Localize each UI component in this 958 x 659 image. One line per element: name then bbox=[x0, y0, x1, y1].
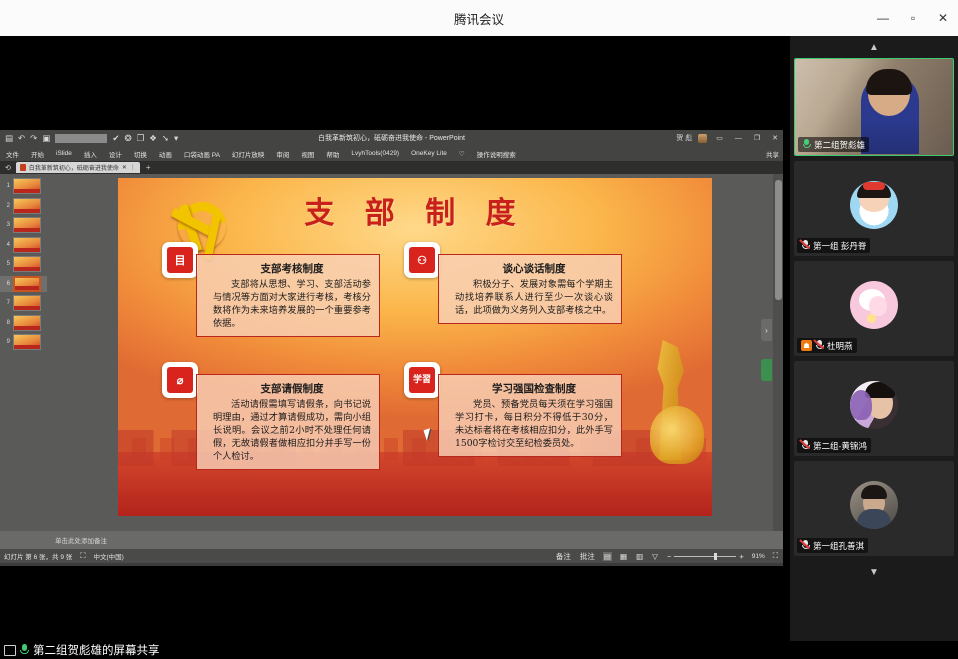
thumbnail-image bbox=[13, 315, 41, 331]
mic-muted-icon bbox=[801, 540, 810, 551]
ribbon-tab-insert[interactable]: 插入 bbox=[78, 149, 103, 159]
file-tab-current[interactable]: 白我革新筑初心，砥砺奋进我使命 ✕ ⋮ bbox=[16, 162, 140, 173]
maximize-button[interactable]: ▫ bbox=[898, 0, 928, 36]
share-mic-icon bbox=[20, 644, 29, 656]
screen-share-bar: 第二组贺彪雄的屏幕共享 bbox=[0, 641, 958, 659]
powerpoint-title-right: 贺 彪 ▭ — ❐ ✕ bbox=[676, 133, 781, 143]
ribbon-tab-slideshow[interactable]: 幻灯片放映 bbox=[226, 149, 271, 159]
slide-canvas-area[interactable]: 支 部 制 度 目 ⚇ ⌀ 学習 支部考核制度 支部将从思想、学习、支部活动参与… bbox=[47, 174, 783, 531]
participant-nametag: 第一组 彭丹脊 bbox=[797, 238, 870, 253]
leave-form-glyph: ⌀ bbox=[167, 367, 193, 393]
mic-muted-icon bbox=[815, 340, 824, 351]
file-tab-menu-icon[interactable]: ⋮ bbox=[130, 164, 136, 171]
ribbon-tab-file[interactable]: 文件 bbox=[0, 149, 25, 159]
quick-access-toolbar: ▤ ↶ ↷ ▣ ✔ ❂ ❐ ❖ ➘ ▾ bbox=[0, 134, 178, 143]
slide-thumbnail-4[interactable]: 4 bbox=[0, 237, 47, 253]
thumbnail-image bbox=[13, 295, 41, 311]
mic-muted-icon bbox=[801, 240, 810, 251]
zoom-knob[interactable] bbox=[714, 553, 717, 560]
accessibility-icon[interactable]: ⛶ bbox=[79, 551, 86, 561]
pointer-icon[interactable]: ➘ bbox=[162, 134, 169, 143]
thumbnail-image bbox=[13, 334, 41, 350]
view-normal-icon[interactable]: ▤ bbox=[603, 552, 612, 561]
powerpoint-file-tabstrip: ⟲ 白我革新筑初心，砥砺奋进我使命 ✕ ⋮ + bbox=[0, 161, 783, 174]
account-name: 贺 彪 bbox=[676, 133, 692, 143]
ribbon-share-area: 共享 bbox=[766, 149, 779, 159]
ribbon-tab-pocket-animation[interactable]: 口袋动画 PA bbox=[178, 149, 226, 159]
zoom-level[interactable]: 91% bbox=[752, 553, 765, 560]
participant-name: 第一组 彭丹脊 bbox=[813, 240, 866, 252]
card-heading: 支部考核制度 bbox=[213, 261, 371, 276]
slide-card-study[interactable]: 学习强国检查制度 党员、预备党员每天须在学习强国学习打卡，每日积分不得低于30分… bbox=[438, 374, 622, 457]
thumbnail-image bbox=[13, 217, 41, 233]
thumbnail-image bbox=[13, 178, 41, 194]
thumbnail-number: 3 bbox=[3, 222, 10, 228]
tabstrip-back-icon[interactable]: ⟲ bbox=[3, 164, 13, 172]
slide-thumbnail-5[interactable]: 5 bbox=[0, 256, 47, 272]
slide-thumbnail-7[interactable]: 7 bbox=[0, 295, 47, 311]
thumbnail-number: 7 bbox=[3, 300, 10, 306]
annotation-toolbar-handle[interactable] bbox=[761, 359, 772, 381]
slide-thumbnail-3[interactable]: 3 bbox=[0, 217, 47, 233]
format-painter-icon[interactable]: ❂ bbox=[124, 134, 131, 143]
slide-thumbnail-9[interactable]: 9 bbox=[0, 334, 47, 350]
language-indicator[interactable]: 中文(中国) bbox=[94, 551, 124, 561]
participant-nametag: 第二组-黄锦鸿 bbox=[797, 438, 871, 453]
slide-counter: 幻灯片 第 6 张，共 9 张 bbox=[4, 551, 72, 561]
card-body: 支部将从思想、学习、支部活动参与情况等方面对大家进行考核，考核分数将作为未来培养… bbox=[213, 278, 371, 330]
thumbnail-number: 6 bbox=[3, 281, 10, 287]
card-heading: 支部请假制度 bbox=[213, 381, 371, 396]
pp-close-button[interactable]: ✕ bbox=[769, 134, 781, 142]
thumbnail-number: 4 bbox=[3, 242, 10, 248]
close-button[interactable]: ✕ bbox=[928, 0, 958, 36]
participant-nametag: ☗ 杜明燕 bbox=[797, 338, 857, 353]
tell-me-search[interactable]: 操作说明搜索 bbox=[471, 149, 522, 159]
pp-minimize-button[interactable]: — bbox=[732, 135, 745, 142]
avatar bbox=[850, 281, 898, 329]
view-slideshow-icon[interactable]: ▽ bbox=[651, 552, 659, 561]
ribbon-tab-design[interactable]: 设计 bbox=[103, 149, 128, 159]
powerpoint-body: 1 2 3 4 5 6 bbox=[0, 174, 783, 531]
card-body: 活动请假需填写请假条，向书记说明理由，通过才算请假成功，需向小组长说明。会议之前… bbox=[213, 398, 371, 463]
slide-thumbnail-1[interactable]: 1 bbox=[0, 178, 47, 194]
slide-thumbnail-6[interactable]: 6 bbox=[0, 276, 47, 292]
window-titlebar: 腾讯会议 — ▫ ✕ bbox=[0, 0, 958, 36]
ribbon-tab-islide[interactable]: iSlide bbox=[50, 150, 78, 157]
share-bar-text: 第二组贺彪雄的屏幕共享 bbox=[33, 642, 160, 658]
ribbon-tab-view[interactable]: 视图 bbox=[295, 149, 320, 159]
participant-tile-4[interactable]: 第一组孔善淇 bbox=[794, 461, 954, 556]
mic-muted-icon bbox=[801, 440, 810, 451]
window-controls: — ▫ ✕ bbox=[868, 0, 958, 36]
status-right-group: 备注 批注 ▤ ▦ ▥ ▽ − + 91% ⛶ bbox=[555, 551, 779, 562]
slide-monument-glow bbox=[650, 406, 704, 464]
ribbon-display-options-icon[interactable]: ▭ bbox=[713, 134, 726, 142]
participant-tile-3[interactable]: 第二组-黄锦鸿 bbox=[794, 361, 954, 456]
lightbulb-icon: ♡ bbox=[453, 150, 471, 158]
powerpoint-ribbon-tabs: 文件 开始 iSlide 插入 设计 切换 动画 口袋动画 PA 幻灯片放映 审… bbox=[0, 146, 783, 161]
new-tab-button[interactable]: + bbox=[143, 163, 154, 172]
ribbon-tab-help[interactable]: 帮助 bbox=[320, 149, 345, 159]
view-reading-icon[interactable]: ▥ bbox=[635, 552, 644, 561]
tencent-meeting-window: 腾讯会议 — ▫ ✕ ▤ ↶ ↷ ▣ ✔ ❂ ❐ ❖ ➘ bbox=[0, 0, 958, 659]
powerpoint-status-bar: 幻灯片 第 6 张，共 9 张 ⛶ 中文(中国) 备注 批注 ▤ ▦ ▥ ▽ −… bbox=[0, 549, 783, 563]
shared-screen-stage: ▤ ↶ ↷ ▣ ✔ ❂ ❐ ❖ ➘ ▾ 白我革新筑初心，砥砺奋进我使命 - Po… bbox=[0, 36, 790, 641]
participant-nametag: 第二组贺彪雄 bbox=[798, 137, 869, 152]
copy-icon[interactable]: ❐ bbox=[137, 134, 145, 143]
participant-rail: ▲ 第二组贺彪雄 第一组 彭丹脊 bbox=[790, 36, 958, 641]
zoom-out-icon[interactable]: − bbox=[666, 552, 672, 561]
clipboard-pen-icon: 目 bbox=[162, 242, 198, 278]
thumbnail-image bbox=[13, 237, 41, 253]
slide-card-assessment[interactable]: 支部考核制度 支部将从思想、学习、支部活动参与情况等方面对大家进行考核，考核分数… bbox=[196, 254, 380, 337]
ribbon-tab-home[interactable]: 开始 bbox=[25, 149, 50, 159]
powerpoint-titlebar: ▤ ↶ ↷ ▣ ✔ ❂ ❐ ❖ ➘ ▾ 白我革新筑初心，砥砺奋进我使命 - Po… bbox=[0, 130, 783, 146]
slide-thumbnail-2[interactable]: 2 bbox=[0, 198, 47, 214]
ribbon-tab-transition[interactable]: 切换 bbox=[128, 149, 153, 159]
slide-title: 支 部 制 度 bbox=[118, 188, 712, 232]
mic-on-icon bbox=[802, 139, 811, 150]
notes-placeholder: 单击此处添加备注 bbox=[55, 535, 107, 545]
thumbnail-image bbox=[13, 198, 41, 214]
avatar bbox=[850, 381, 898, 429]
zoom-in-icon[interactable]: + bbox=[738, 552, 744, 561]
ribbon-tab-animation[interactable]: 动画 bbox=[153, 149, 178, 159]
zoom-track[interactable] bbox=[674, 556, 736, 557]
fit-to-window-icon[interactable]: ⛶ bbox=[772, 551, 779, 561]
powerpoint-file-icon bbox=[20, 164, 26, 171]
slide-canvas[interactable]: 支 部 制 度 目 ⚇ ⌀ 学習 支部考核制度 支部将从思想、学习、支部活动参与… bbox=[118, 178, 712, 516]
thumbnail-number: 8 bbox=[3, 320, 10, 326]
study-glyph: 学習 bbox=[409, 367, 435, 393]
card-body: 积极分子、发展对象需每个学期主动找培养联系人进行至少一次谈心谈话，此项做为义务列… bbox=[455, 278, 613, 317]
card-heading: 学习强国检查制度 bbox=[455, 381, 613, 396]
minimize-button[interactable]: — bbox=[868, 0, 898, 36]
thumbnail-number: 2 bbox=[3, 203, 10, 209]
study-strong-nation-icon: 学習 bbox=[404, 362, 440, 398]
ribbon-tab-lvyhtools[interactable]: LvyhTools(0429) bbox=[345, 150, 405, 157]
thumbnail-number: 9 bbox=[3, 339, 10, 345]
share-button[interactable]: 共享 bbox=[766, 149, 779, 159]
slide-thumbnail-8[interactable]: 8 bbox=[0, 315, 47, 331]
clipboard-pen-glyph: 目 bbox=[167, 247, 193, 273]
account-avatar[interactable] bbox=[698, 134, 707, 143]
slide-next-pane-toggle[interactable]: › bbox=[761, 319, 772, 341]
window-title: 腾讯会议 bbox=[0, 9, 958, 28]
participant-tile-2[interactable]: ☗ 杜明燕 bbox=[794, 261, 954, 356]
powerpoint-window: ▤ ↶ ↷ ▣ ✔ ❂ ❐ ❖ ➘ ▾ 白我革新筑初心，砥砺奋进我使命 - Po… bbox=[0, 130, 783, 566]
people-talk-icon: ⚇ bbox=[404, 242, 440, 278]
avatar bbox=[850, 181, 898, 229]
file-tab-close-icon[interactable]: ✕ bbox=[122, 164, 127, 171]
pp-restore-button[interactable]: ❐ bbox=[751, 134, 763, 142]
slide-card-heart-talk[interactable]: 谈心谈话制度 积极分子、发展对象需每个学期主动找培养联系人进行至少一次谈心谈话，… bbox=[438, 254, 622, 324]
participant-name: 杜明燕 bbox=[827, 340, 853, 352]
redo-icon[interactable]: ↷ bbox=[30, 134, 37, 143]
zoom-slider[interactable]: − + bbox=[666, 552, 745, 561]
avatar bbox=[850, 481, 898, 529]
thumbnail-number: 1 bbox=[3, 183, 10, 189]
participant-name: 第二组-黄锦鸿 bbox=[813, 440, 867, 452]
quick-access-field[interactable] bbox=[55, 134, 107, 143]
card-heading: 谈心谈话制度 bbox=[455, 261, 613, 276]
participant-nametag: 第一组孔善淇 bbox=[797, 538, 868, 553]
host-badge-icon: ☗ bbox=[801, 340, 812, 351]
card-body: 党员、预备党员每天须在学习强国学习打卡，每日积分不得低于30分，未达标者将在考核… bbox=[455, 398, 613, 450]
participant-name: 第二组贺彪雄 bbox=[814, 139, 865, 151]
notes-pane[interactable]: 单击此处添加备注 bbox=[0, 531, 783, 549]
comments-toggle-button[interactable]: 批注 bbox=[579, 551, 596, 562]
screen-share-icon bbox=[4, 645, 16, 656]
touch-icon[interactable]: ✔ bbox=[112, 134, 119, 143]
slide-scrollbar[interactable] bbox=[773, 174, 783, 531]
start-show-icon[interactable]: ▣ bbox=[42, 134, 50, 143]
more-icon[interactable]: ▾ bbox=[174, 134, 178, 143]
participants-scroll-up-button[interactable]: ▲ bbox=[790, 36, 958, 58]
people-talk-glyph: ⚇ bbox=[409, 247, 435, 273]
participant-tile-0[interactable]: 第二组贺彪雄 bbox=[794, 58, 954, 156]
ribbon-tab-onekey-lite[interactable]: OneKey Lite bbox=[405, 150, 453, 157]
leave-form-icon: ⌀ bbox=[162, 362, 198, 398]
scrollbar-thumb[interactable] bbox=[775, 180, 782, 300]
view-slide-sorter-icon[interactable]: ▦ bbox=[619, 552, 628, 561]
slide-card-leave[interactable]: 支部请假制度 活动请假需填写请假条，向书记说明理由，通过才算请假成功，需向小组长… bbox=[196, 374, 380, 470]
thumbnail-number: 5 bbox=[3, 261, 10, 267]
save-icon[interactable]: ▤ bbox=[5, 134, 13, 143]
notes-toggle-button[interactable]: 备注 bbox=[555, 551, 572, 562]
paste-icon[interactable]: ❖ bbox=[149, 134, 157, 143]
undo-icon[interactable]: ↶ bbox=[18, 134, 25, 143]
thumbnail-image bbox=[13, 256, 41, 272]
thumbnail-image bbox=[13, 276, 41, 292]
participant-name: 第一组孔善淇 bbox=[813, 540, 864, 552]
participant-tile-1[interactable]: 第一组 彭丹脊 bbox=[794, 161, 954, 256]
ribbon-tab-review[interactable]: 审阅 bbox=[270, 149, 295, 159]
participants-scroll-down-button[interactable]: ▼ bbox=[790, 561, 958, 583]
file-tab-label: 白我革新筑初心，砥砺奋进我使命 bbox=[29, 163, 119, 172]
slide-thumbnail-panel[interactable]: 1 2 3 4 5 6 bbox=[0, 174, 47, 531]
